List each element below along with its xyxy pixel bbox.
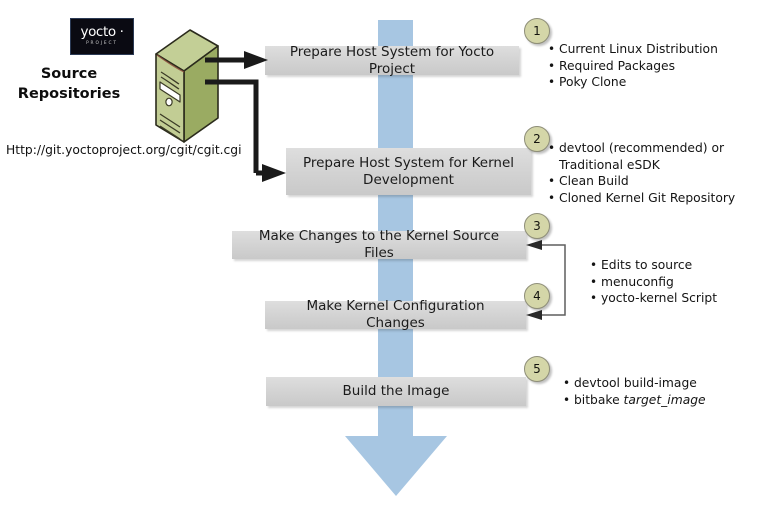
bitbake-target-image-arg: target_image — [624, 393, 706, 407]
process-box-step-2-label-line1: Prepare Host System for Kernel — [303, 155, 514, 172]
step-number-4: 4 — [524, 283, 550, 309]
step-number-1: 1 — [524, 18, 550, 44]
process-box-step-5[interactable]: Build the Image — [266, 377, 526, 406]
step-1-bullets: Current Linux Distribution Required Pack… — [546, 41, 761, 91]
yocto-project-logo: yocto · PROJECT — [70, 18, 134, 55]
step-number-4-text: 4 — [533, 289, 541, 303]
process-box-step-4-label: Make Kernel Configuration Changes — [275, 298, 516, 332]
process-box-step-1-label: Prepare Host System for Yocto Project — [275, 44, 509, 78]
source-repositories-label: Source Repositories — [0, 64, 144, 104]
workflow-arrow-down-icon — [345, 436, 447, 496]
step-number-3: 3 — [524, 213, 550, 239]
diagram-canvas: yocto · PROJECT Source Repositories Http… — [0, 0, 769, 517]
list-item: bitbake target_image — [574, 392, 761, 409]
process-box-step-5-label: Build the Image — [343, 383, 450, 400]
step-number-5-text: 5 — [533, 362, 541, 376]
step-3-4-shared-bullets: Edits to source menuconfig yocto-kernel … — [588, 257, 758, 307]
process-box-step-3[interactable]: Make Changes to the Kernel Source Files — [232, 231, 526, 259]
process-box-step-2[interactable]: Prepare Host System for Kernel Developme… — [286, 148, 531, 195]
list-item: Required Packages — [559, 58, 761, 75]
source-repository-url: Http://git.yoctoproject.org/cgit/cgit.cg… — [6, 143, 242, 157]
step-number-2: 2 — [524, 126, 550, 152]
list-item: Current Linux Distribution — [559, 41, 761, 58]
step-5-bullets: devtool build-image bitbake target_image — [561, 375, 761, 408]
logo-primary-text: yocto · — [80, 26, 123, 39]
list-item: devtool (recommended) or Traditional eSD… — [559, 140, 746, 173]
process-box-step-2-label-line2: Development — [363, 172, 454, 189]
step-number-3-text: 3 — [533, 219, 541, 233]
process-box-step-1[interactable]: Prepare Host System for Yocto Project — [265, 46, 519, 75]
step-number-5: 5 — [524, 356, 550, 382]
step-number-1-text: 1 — [533, 24, 541, 38]
source-label-line2: Repositories — [0, 84, 144, 104]
list-item: menuconfig — [601, 274, 758, 291]
source-label-line1: Source — [0, 64, 144, 84]
step-number-2-text: 2 — [533, 132, 541, 146]
list-item: yocto-kernel Script — [601, 290, 758, 307]
list-item: devtool build-image — [574, 375, 761, 392]
process-box-step-4[interactable]: Make Kernel Configuration Changes — [265, 301, 526, 329]
list-item: Clean Build — [559, 173, 746, 190]
list-item: Poky Clone — [559, 74, 761, 91]
bitbake-command-prefix: bitbake — [574, 393, 624, 407]
process-box-step-3-label: Make Changes to the Kernel Source Files — [242, 228, 516, 262]
logo-secondary-text: PROJECT — [86, 40, 118, 47]
list-item: Cloned Kernel Git Repository — [559, 190, 746, 207]
list-item: Edits to source — [601, 257, 758, 274]
step-2-bullets: devtool (recommended) or Traditional eSD… — [546, 140, 746, 206]
